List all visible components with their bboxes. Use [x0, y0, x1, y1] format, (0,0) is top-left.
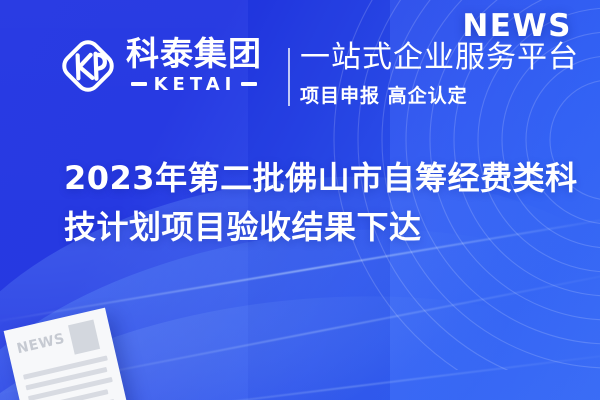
kp-monogram-icon — [58, 36, 118, 96]
vertical-divider — [288, 48, 290, 106]
tagline-secondary: 项目申报 高企认定 — [300, 81, 579, 108]
dash-left-icon — [131, 82, 147, 86]
brand-name-en: KETAI — [152, 74, 237, 95]
newspaper-thumbnail — [68, 320, 100, 355]
tagline-primary: 一站式企业服务平台 — [300, 40, 579, 76]
tagline-block: 一站式企业服务平台 项目申报 高企认定 — [300, 40, 579, 108]
dash-right-icon — [241, 82, 257, 86]
brand-wordmark: 科泰集团 KETAI — [126, 37, 262, 95]
brand-logo[interactable]: 科泰集团 KETAI — [58, 36, 262, 96]
news-label: NEWS — [462, 8, 572, 44]
brand-name-cn: 科泰集团 — [126, 37, 262, 72]
brand-name-en-row: KETAI — [131, 74, 258, 95]
newspaper-masthead: NEWS — [14, 327, 66, 356]
headline-text: 2023年第二批佛山市自筹经费类科技计划项目验收结果下达 — [64, 154, 584, 251]
news-banner: NEWS 科泰集团 KETAI — [0, 0, 600, 400]
